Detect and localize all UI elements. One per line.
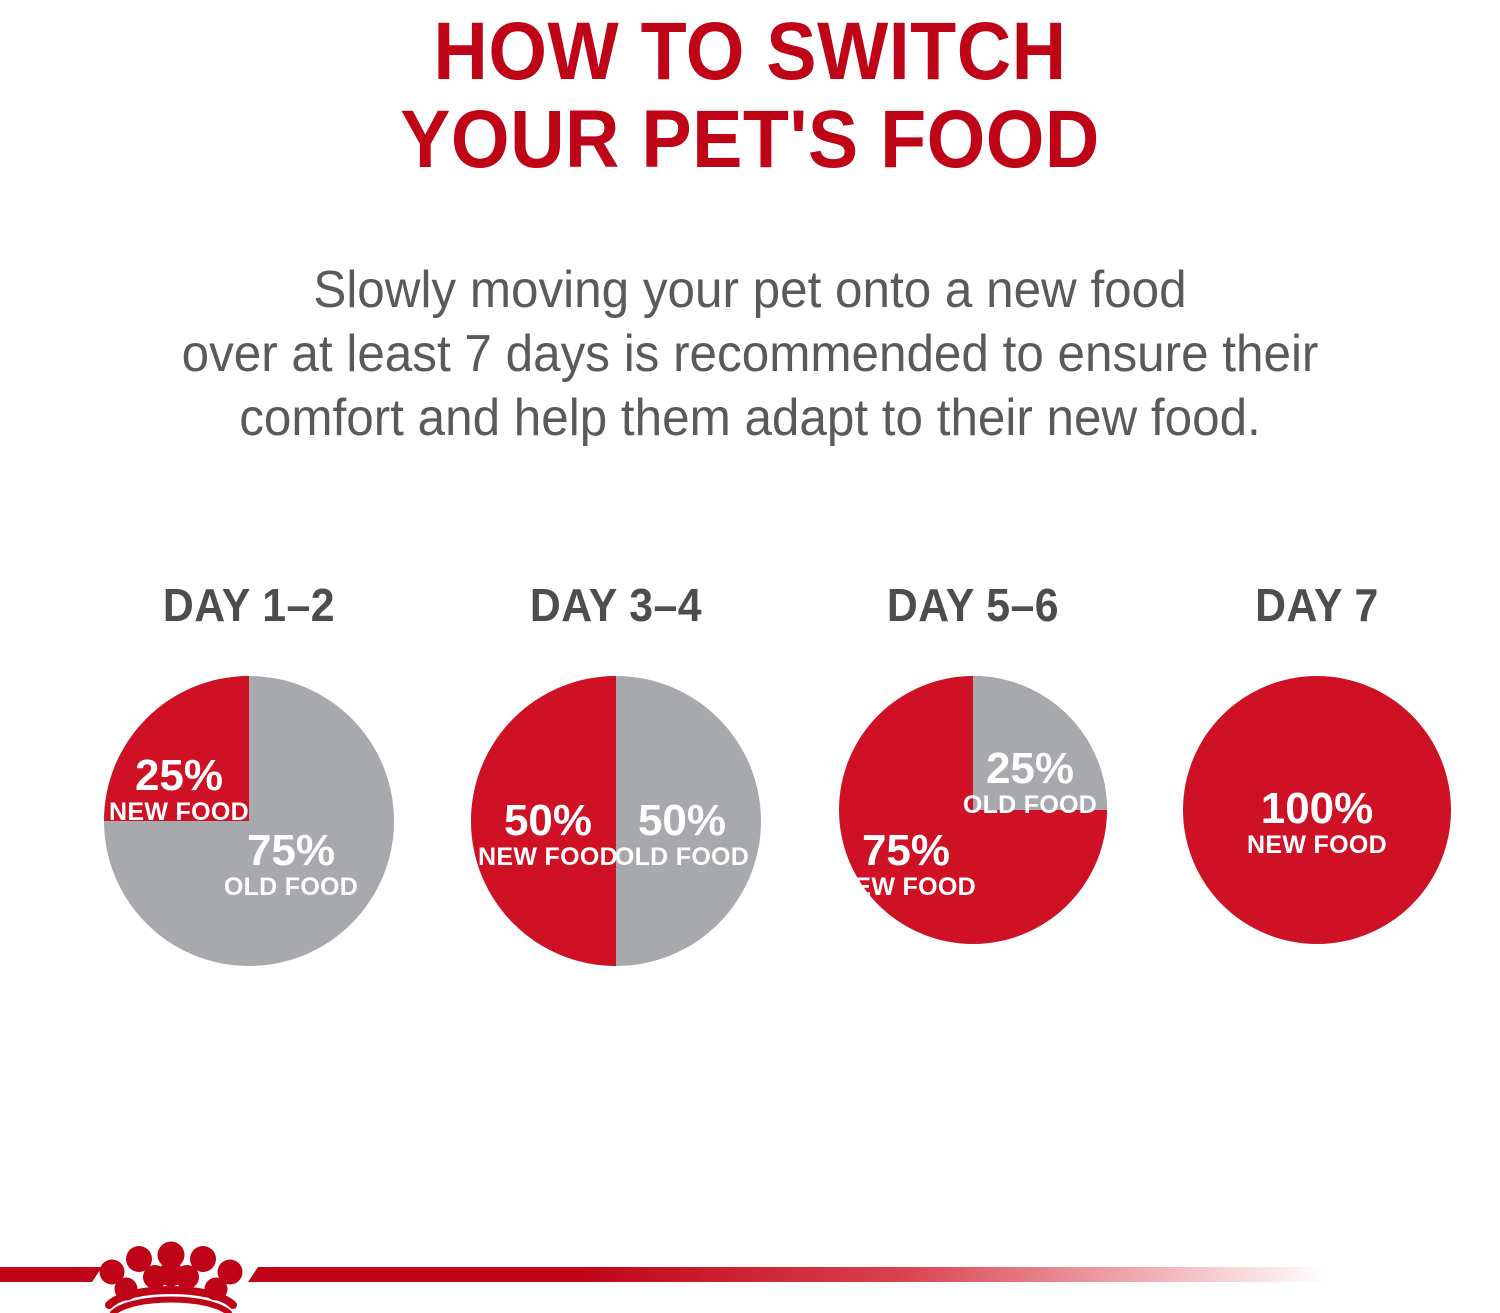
pie-cell-day-5-6: DAY 5–6 25% OLD FOOD 75% NEW FOOD [838,580,1108,980]
crown-arc-lower [113,1300,229,1313]
slice-pct-old-2: 50% [638,796,726,845]
slice-pct-new-2: 50% [504,796,592,845]
slice-sub-old-3: OLD FOOD [963,791,1097,819]
day-label-1: DAY 1–2 [113,580,385,630]
pie-chart-day-1-2: 25% NEW FOOD 75% OLD FOOD [103,675,395,967]
pie-cell-day-3-4: DAY 3–4 50% NEW FOOD 50% OLD FOOD [470,580,762,980]
slice-pct-new-4: 100% [1261,784,1374,833]
slice-sub-new-1: NEW FOOD [109,798,249,826]
intro-line-2: over at least 7 days is recommended to e… [85,322,1415,386]
pie-svg-2: 50% NEW FOOD 50% OLD FOOD [470,675,762,967]
footer-rule-right [258,1267,1328,1282]
pie-chart-day-5-6: 25% OLD FOOD 75% NEW FOOD [838,675,1108,945]
intro-paragraph: Slowly moving your pet onto a new food o… [50,258,1450,450]
page-title: HOW TO SWITCH YOUR PET'S FOOD [0,8,1500,184]
day-label-3: DAY 5–6 [847,580,1098,630]
pie-chart-day-3-4: 50% NEW FOOD 50% OLD FOOD [470,675,762,967]
slice-sub-new-3: NEW FOOD [838,873,976,901]
footer-rule-right-taper [248,1267,258,1282]
slice-pct-new-1: 25% [135,751,223,800]
slice-pct-old-1: 75% [247,826,335,875]
slice-sub-old-1: OLD FOOD [224,873,358,901]
day-label-4: DAY 7 [1191,580,1442,630]
title-line-1: HOW TO SWITCH [60,8,1440,96]
slice-sub-new-4: NEW FOOD [1247,831,1387,859]
pie-svg-3: 25% OLD FOOD 75% NEW FOOD [838,675,1108,945]
pie-chart-day-7: 100% NEW FOOD [1182,675,1452,945]
pie-svg-1: 25% NEW FOOD 75% OLD FOOD [103,675,395,967]
pie-cell-day-1-2: DAY 1–2 25% NEW FOOD 75% OLD FOOD [103,580,395,980]
intro-line-1: Slowly moving your pet onto a new food [85,258,1415,322]
infographic-page: HOW TO SWITCH YOUR PET'S FOOD Slowly mov… [0,0,1500,1313]
footer-rule-left [0,1267,92,1282]
intro-line-3: comfort and help them adapt to their new… [85,386,1415,450]
title-line-2: YOUR PET'S FOOD [60,96,1440,184]
royal-canin-crown-icon [95,1241,247,1313]
pie-chart-row: DAY 1–2 25% NEW FOOD 75% OLD FOOD DAY 3–… [0,580,1500,1000]
slice-pct-old-3: 25% [986,744,1074,793]
slice-pct-new-3: 75% [862,826,950,875]
slice-sub-new-2: NEW FOOD [478,843,618,871]
pie-svg-4: 100% NEW FOOD [1182,675,1452,945]
day-label-2: DAY 3–4 [480,580,752,630]
pie-cell-day-7: DAY 7 100% NEW FOOD [1182,580,1452,980]
slice-sub-old-2: OLD FOOD [615,843,749,871]
footer-brand-bar [0,1240,1500,1313]
